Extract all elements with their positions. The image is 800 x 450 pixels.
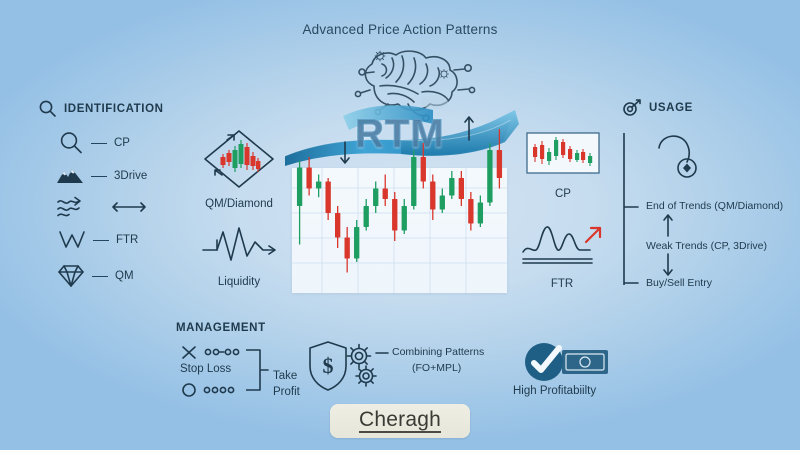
- magnifier-icon: [58, 130, 84, 156]
- shield-dollar-gears-icon: $: [306, 340, 392, 394]
- identification-label: IDENTIFICATION: [64, 103, 164, 115]
- high-profitability-label: High Profitabiilty: [513, 385, 596, 397]
- id-item-3drive[interactable]: 3Drive: [56, 166, 147, 186]
- usage-bracket: [622, 133, 640, 285]
- id-label-cp: CP: [114, 137, 130, 149]
- id-item-cp[interactable]: CP: [58, 130, 130, 156]
- up-arrow-icon: [661, 212, 675, 238]
- page-title: Advanced Price Action Patterns: [0, 22, 800, 37]
- usage-item-end-of-trends[interactable]: End of Trends (QM/Diamond): [646, 200, 783, 212]
- take-profit-label-1: Take: [273, 370, 297, 382]
- usage-label: USAGE: [649, 102, 693, 114]
- pattern-caption-ftr: FTR: [516, 278, 608, 290]
- x-mark-icon: [180, 344, 200, 360]
- id-label-3drive: 3Drive: [114, 170, 147, 182]
- usage-heading: USAGE: [622, 99, 693, 117]
- pattern-card-cp[interactable]: CP: [518, 132, 608, 200]
- circle-mark-icon: [180, 382, 198, 398]
- combining-patterns-label-1: Combining Patterns: [392, 346, 484, 358]
- pattern-caption-qm: QM/Diamond: [196, 198, 282, 210]
- main-candlestick-chart: [292, 168, 507, 293]
- target-arrow-icon: [622, 99, 642, 117]
- connector-dash: [91, 143, 107, 144]
- pattern-caption-cp: CP: [518, 188, 608, 200]
- id-item-qm[interactable]: QM: [57, 264, 134, 288]
- connector-dash: [92, 276, 108, 277]
- magnifier-icon: [38, 99, 57, 118]
- liquidity-wave-icon: [199, 222, 279, 268]
- candle-series: [292, 122, 507, 297]
- id-label-ftr: FTR: [116, 234, 138, 246]
- cp-candles-box-icon: [526, 132, 600, 180]
- take-profit-bracket: [246, 348, 270, 392]
- down-arrow-icon: [661, 252, 675, 278]
- svg-text:$: $: [323, 353, 334, 378]
- pattern-card-ftr[interactable]: FTR: [516, 218, 608, 290]
- w-shape-icon: [58, 230, 86, 250]
- curved-arrow-target-icon: [655, 130, 713, 182]
- usage-item-weak-trends[interactable]: Weak Trends (CP, 3Drive): [646, 240, 767, 252]
- pattern-card-qm-diamond[interactable]: QM/Diamond: [196, 128, 282, 210]
- pattern-caption-liquidity: Liquidity: [196, 276, 282, 288]
- double-arrow-icon: [110, 198, 148, 216]
- connector-dash: [93, 240, 109, 241]
- take-profit-dots: [202, 385, 248, 395]
- stop-loss-dots: [203, 347, 249, 357]
- connector-dash: [91, 176, 107, 177]
- combining-patterns-label-2: (FO+MPL): [412, 362, 461, 374]
- identification-heading: IDENTIFICATION: [38, 99, 164, 118]
- check-money-icon: [516, 338, 612, 384]
- infographic-canvas: Advanced Price Action Patterns: [0, 0, 800, 450]
- brand-logo[interactable]: Cheragh: [330, 404, 470, 438]
- brand-logo-text: Cheragh: [359, 409, 441, 433]
- management-heading: MANAGEMENT: [176, 322, 266, 334]
- id-item-wave[interactable]: [56, 196, 148, 218]
- wavy-arrow-icon: [56, 196, 88, 218]
- pattern-card-liquidity[interactable]: Liquidity: [196, 222, 282, 288]
- id-item-ftr[interactable]: FTR: [58, 230, 138, 250]
- diamond-candles-icon: [201, 128, 277, 190]
- usage-item-buy-sell-entry[interactable]: Buy/Sell Entry: [646, 277, 712, 289]
- diamond-gem-icon: [57, 264, 85, 288]
- take-profit-label-2: Profit: [273, 386, 300, 398]
- id-label-qm: QM: [115, 270, 134, 282]
- ftr-wave-arrow-icon: [520, 218, 604, 270]
- management-label: MANAGEMENT: [176, 322, 266, 334]
- mountains-icon: [56, 166, 84, 186]
- stop-loss-label: Stop Loss: [180, 363, 231, 375]
